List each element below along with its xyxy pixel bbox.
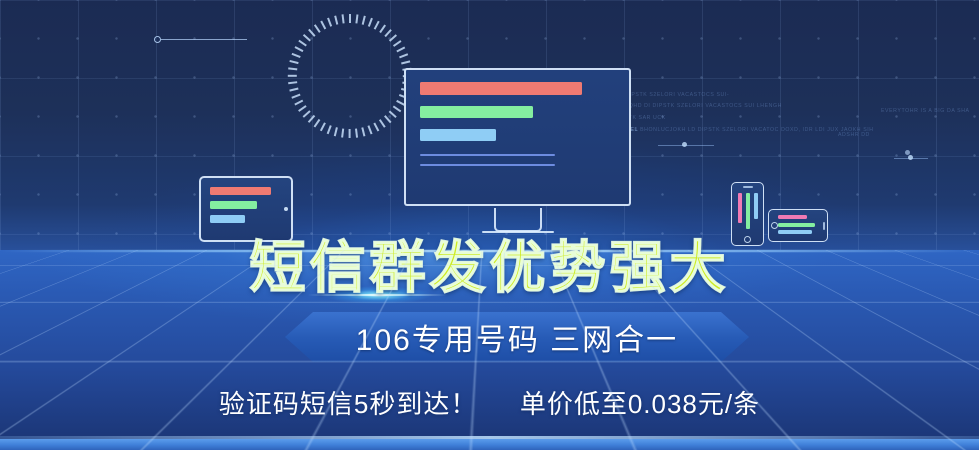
tick-mark xyxy=(327,125,332,134)
tablet-bar-green xyxy=(210,201,257,209)
tablet-bar-red xyxy=(210,187,271,195)
tablet-device xyxy=(199,176,293,242)
subtitle-row: 验证码短信5秒到达！ 单价低至0.038元/条 xyxy=(0,384,979,421)
tick-mark xyxy=(401,60,410,64)
monitor-stand-neck xyxy=(494,208,542,232)
monitor-screen xyxy=(404,68,631,206)
node-dot-icon xyxy=(154,36,161,43)
tick-mark xyxy=(356,129,359,138)
tick-mark xyxy=(288,75,297,77)
tick-mark xyxy=(314,119,320,127)
desktop-monitor xyxy=(404,68,631,206)
tick-mark xyxy=(349,14,351,23)
tick-mark xyxy=(393,40,401,46)
feature-ribbon: 106专用号码 三网合一 xyxy=(285,312,749,362)
phone-landscape-bar-pink xyxy=(778,215,807,219)
tick-mark xyxy=(292,53,301,58)
tick-mark xyxy=(295,100,304,106)
monitor-bar-red xyxy=(420,82,582,95)
tick-mark xyxy=(320,21,326,30)
tick-mark xyxy=(399,53,408,58)
tick-mark xyxy=(290,60,299,64)
tick-mark xyxy=(308,29,315,37)
monitor-bar-blue xyxy=(420,129,496,141)
phone-chart-bars xyxy=(732,193,763,231)
page-title: 短信群发优势强大 xyxy=(0,240,979,296)
background-underline-marker xyxy=(894,158,928,159)
tablet-home-button-icon xyxy=(284,207,288,211)
tick-mark xyxy=(389,34,397,41)
background-underline-marker xyxy=(658,145,714,146)
tick-mark xyxy=(303,111,311,118)
feature-ribbon-label: 106专用号码 三网合一 xyxy=(356,315,678,359)
tick-mark xyxy=(368,125,373,134)
tick-mark xyxy=(379,119,385,127)
tick-mark xyxy=(368,18,373,27)
tick-mark xyxy=(385,115,392,123)
subtitle-left: 验证码短信5秒到达！ xyxy=(219,389,477,419)
subtitle-right: 单价低至0.038元/条 xyxy=(520,389,760,419)
bottom-accent-strip xyxy=(0,439,979,450)
tick-mark xyxy=(299,105,307,111)
phone-landscape-device xyxy=(768,209,828,242)
phone-landscape-bar-green xyxy=(778,223,815,227)
tick-mark xyxy=(356,14,359,23)
tick-mark xyxy=(342,14,345,23)
tick-mark xyxy=(334,127,338,136)
tick-mark xyxy=(362,127,366,136)
tick-mark xyxy=(374,123,380,132)
tick-mark xyxy=(308,115,315,123)
tick-mark xyxy=(374,21,380,30)
phone-vbar-blue xyxy=(754,193,758,219)
tick-mark xyxy=(334,16,338,25)
phone-vbar-pink xyxy=(738,193,742,223)
node-wire-line xyxy=(161,39,247,40)
monitor-bar-line xyxy=(420,154,555,156)
phone-landscape-bar-blue xyxy=(778,230,812,234)
tablet-bar-blue xyxy=(210,215,245,223)
phone-landscape-speaker-icon xyxy=(823,222,825,230)
tick-mark xyxy=(303,34,311,41)
tick-mark xyxy=(349,129,351,138)
tick-mark xyxy=(397,46,406,52)
tick-mark xyxy=(389,111,397,118)
tick-mark xyxy=(292,94,301,99)
tick-mark xyxy=(393,105,401,111)
monitor-stand-base xyxy=(482,231,554,233)
tick-mark xyxy=(327,18,332,27)
tick-mark xyxy=(288,68,297,71)
phone-landscape-home-button-icon xyxy=(771,222,778,229)
tick-mark xyxy=(288,82,297,85)
background-text-line: EVERYTOHR IS A BIG DA SHA xyxy=(881,108,970,114)
tick-mark xyxy=(290,88,299,92)
tick-circle-decoration xyxy=(288,14,412,138)
tick-mark xyxy=(295,46,304,52)
tick-mark xyxy=(379,25,385,33)
phone-portrait-device xyxy=(731,182,764,246)
tick-mark xyxy=(314,25,320,33)
tick-mark xyxy=(342,129,345,138)
tick-mark xyxy=(362,16,366,25)
tick-mark xyxy=(385,29,392,37)
node-dot-right-icon xyxy=(905,150,910,155)
phone-vbar-green xyxy=(746,193,750,229)
monitor-bar-line xyxy=(420,164,555,166)
monitor-bar-green xyxy=(420,106,533,118)
phone-speaker-icon xyxy=(743,186,753,188)
tick-mark xyxy=(320,123,326,132)
tick-mark xyxy=(299,40,307,46)
banner-root: IN A DIPSTK S2ELORI VACASTOCS SUI- SANG … xyxy=(0,0,979,450)
background-text-line: ADSHR DD xyxy=(838,132,870,138)
